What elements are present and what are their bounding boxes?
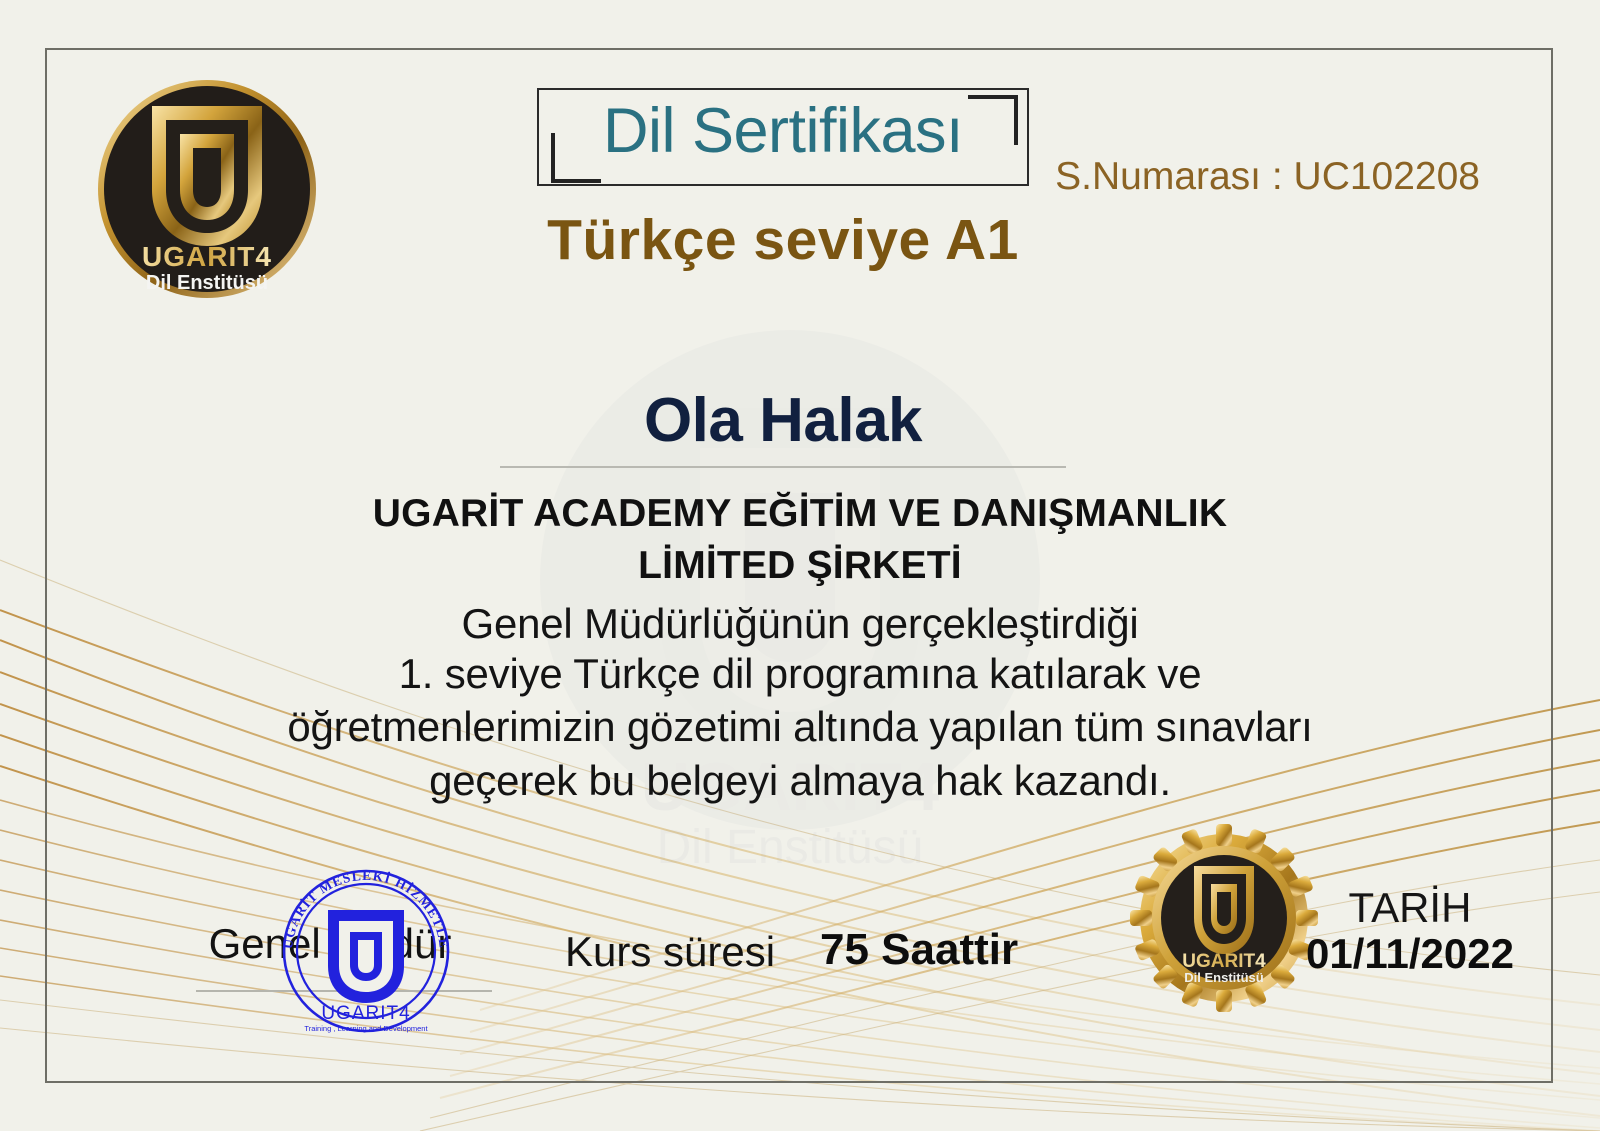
recipient-name-underline [500, 466, 1066, 468]
watermark-tagline: Dil Enstitüsü [657, 821, 924, 874]
stamp-sub: Training , Learning and Development [304, 1024, 428, 1033]
course-duration-label: Kurs süresi [565, 928, 775, 976]
stamp-mark: UGARIT4 [321, 1003, 410, 1024]
seal-name: UGARIT4 [1182, 951, 1266, 972]
serial-number: S.Numarası : UC102208 [1000, 155, 1480, 199]
recipient-name: Ola Halak [500, 385, 1066, 456]
date-value: 01/11/2022 [1292, 930, 1528, 978]
gold-seal-icon: UGARIT4 Dil Enstitüsü [1128, 822, 1320, 1014]
course-duration-value: 75 Saattir [820, 925, 1018, 975]
date-label: TARİH [1300, 884, 1520, 932]
certificate-document: UGARIT4 Dil Enstitüsü [0, 0, 1600, 1131]
certificate-subtitle: Türkçe seviye A1 [430, 207, 1136, 273]
brand-logo-icon: UGARIT4 Dil Enstitüsü [96, 78, 318, 300]
organization-line-2: LİMİTED ŞİRKETİ [240, 544, 1360, 588]
body-line-4: geçerek bu belgeyi almaya hak kazandı. [150, 757, 1450, 805]
certificate-title: Dil Sertifikası [537, 95, 1029, 167]
body-line-3: öğretmenlerimizin gözetimi altında yapıl… [150, 703, 1450, 751]
body-line-1: Genel Müdürlüğünün gerçekleştirdiği [150, 600, 1450, 648]
logo-name: UGARIT4 [142, 241, 272, 272]
body-line-2: 1. seviye Türkçe dil programına katılara… [150, 650, 1450, 698]
logo-tagline: Dil Enstitüsü [146, 272, 268, 294]
organization-line-1: UGARİT ACADEMY EĞİTİM VE DANIŞMANLIK [240, 492, 1360, 536]
seal-tagline: Dil Enstitüsü [1184, 970, 1264, 985]
official-stamp-icon: UGARİT MESLEKİ HİZMETLER VE DANIŞMANLIK … [268, 862, 464, 1040]
